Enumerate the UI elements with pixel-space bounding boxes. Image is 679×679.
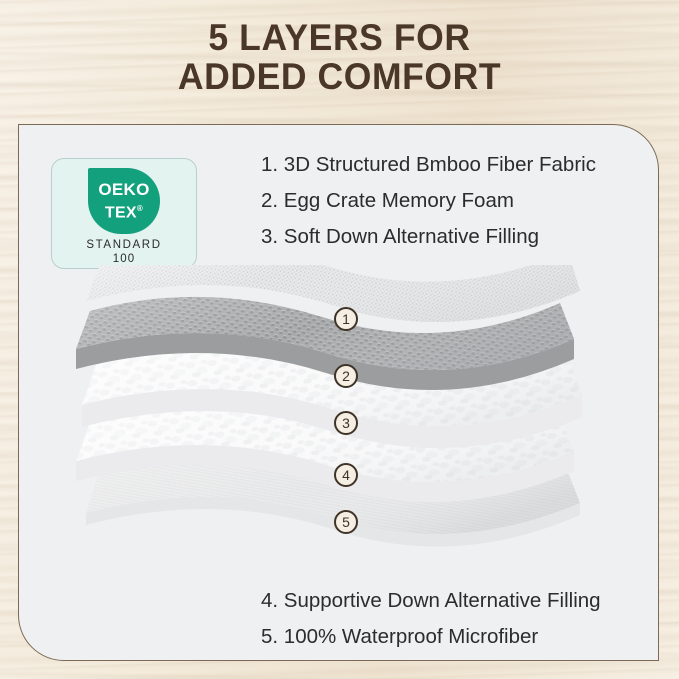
title-line-1: 5 Layers For	[208, 17, 470, 58]
layer-badge-4: 4	[334, 463, 358, 487]
registered-mark-icon: ®	[137, 204, 143, 213]
layer-badge-2: 2	[334, 364, 358, 388]
content-card: OEKO TEX® STANDARD 100 1. 3D Structured …	[18, 124, 659, 661]
infographic-page: 5 Layers For Added Comfort OEKO TEX® STA…	[0, 0, 679, 679]
oeko-standard-number: 100	[52, 253, 196, 265]
list-item: 1. 3D Structured Bmboo Fiber Fabric	[261, 147, 659, 183]
page-title: 5 Layers For Added Comfort	[14, 18, 666, 96]
layer-badge-1: 1	[334, 307, 358, 331]
feature-list-top: 1. 3D Structured Bmboo Fiber Fabric 2. E…	[261, 147, 659, 255]
oeko-tex-droplet-icon: OEKO TEX®	[88, 168, 160, 234]
list-item: 2. Egg Crate Memory Foam	[261, 183, 659, 219]
title-line-2: Added Comfort	[14, 57, 666, 96]
list-item: 4. Supportive Down Alternative Filling	[261, 583, 659, 619]
oeko-brand-line-1: OEKO	[98, 181, 149, 198]
list-item: 5. 100% Waterproof Microfiber	[261, 619, 659, 655]
feature-list-bottom: 4. Supportive Down Alternative Filling 5…	[261, 583, 659, 655]
oeko-tex-badge: OEKO TEX® STANDARD 100	[51, 158, 197, 269]
layer-badge-5: 5	[334, 510, 358, 534]
layer-badge-3: 3	[334, 411, 358, 435]
oeko-brand-line-2: TEX®	[105, 200, 143, 221]
list-item: 3. Soft Down Alternative Filling	[261, 219, 659, 255]
oeko-standard-label: STANDARD	[52, 239, 196, 251]
